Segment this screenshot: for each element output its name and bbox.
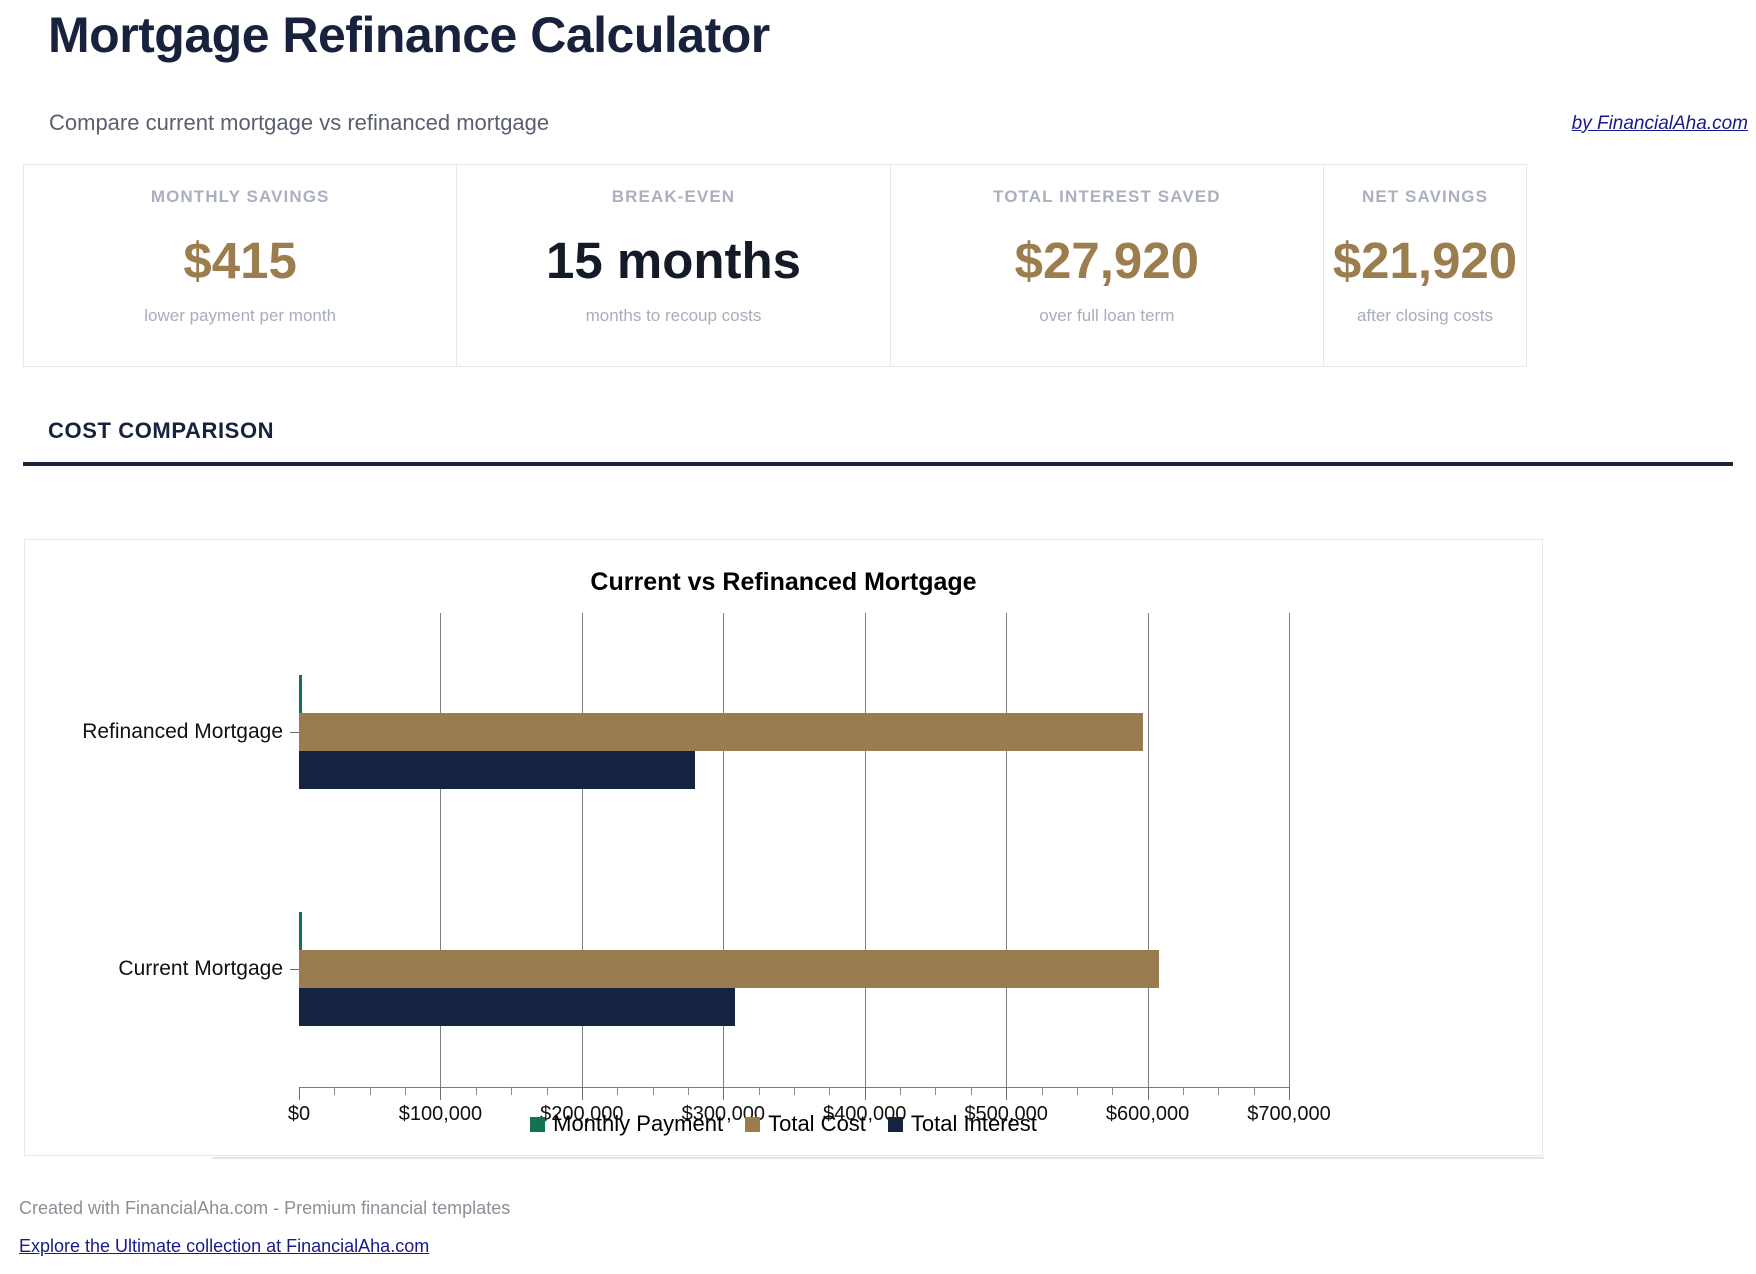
kpi-value: $415: [183, 231, 296, 290]
kpi-value: 15 months: [546, 231, 801, 290]
kpi-sublabel: after closing costs: [1357, 306, 1493, 326]
x-axis-tick: [1148, 1087, 1149, 1100]
legend-item[interactable]: Total Cost: [745, 1111, 866, 1137]
x-axis-minor-tick: [1077, 1087, 1078, 1095]
x-axis-minor-tick: [476, 1087, 477, 1095]
y-axis-category-label: Current Mortgage: [118, 957, 283, 981]
x-axis-tick: [582, 1087, 583, 1100]
gridline: [865, 613, 866, 1087]
x-axis-minor-tick: [547, 1087, 548, 1095]
x-axis-minor-tick: [617, 1087, 618, 1095]
kpi-card-row: MONTHLY SAVINGS $415 lower payment per m…: [23, 164, 1527, 367]
x-axis-tick: [299, 1087, 300, 1100]
section-divider: [23, 462, 1733, 466]
y-axis-tick: [290, 969, 299, 970]
x-axis-minor-tick: [511, 1087, 512, 1095]
page-title: Mortgage Refinance Calculator: [48, 6, 770, 64]
bar-refinanced-mortgage-monthly-payment: [299, 675, 302, 713]
gridline: [1006, 613, 1007, 1087]
x-axis-tick: [723, 1087, 724, 1100]
footer-note: Created with FinancialAha.com - Premium …: [19, 1198, 510, 1219]
y-axis-tick: [290, 732, 299, 733]
gridline: [1289, 613, 1290, 1087]
chart-bottom-rule: [212, 1157, 1544, 1159]
bar-current-mortgage-total-cost: [299, 950, 1159, 988]
x-axis-minor-tick: [829, 1087, 830, 1095]
x-axis-minor-tick: [759, 1087, 760, 1095]
legend-label: Monthly Payment: [553, 1111, 723, 1137]
legend-swatch: [888, 1117, 903, 1132]
x-axis-minor-tick: [405, 1087, 406, 1095]
bar-refinanced-mortgage-total-interest: [299, 751, 695, 789]
kpi-sublabel: months to recoup costs: [586, 306, 762, 326]
x-axis-minor-tick: [334, 1087, 335, 1095]
kpi-card-net-savings[interactable]: NET SAVINGS $21,920 after closing costs: [1324, 165, 1526, 366]
legend-item[interactable]: Monthly Payment: [530, 1111, 723, 1137]
kpi-value: $21,920: [1333, 231, 1517, 290]
x-axis-minor-tick: [653, 1087, 654, 1095]
kpi-sublabel: over full loan term: [1039, 306, 1174, 326]
kpi-label: TOTAL INTEREST SAVED: [993, 187, 1221, 207]
section-heading-cost-comparison: COST COMPARISON: [48, 418, 274, 444]
bar-current-mortgage-monthly-payment: [299, 912, 302, 950]
x-axis-minor-tick: [1183, 1087, 1184, 1095]
bar-refinanced-mortgage-total-cost: [299, 713, 1143, 751]
x-axis-minor-tick: [935, 1087, 936, 1095]
x-axis-minor-tick: [900, 1087, 901, 1095]
legend-label: Total Cost: [768, 1111, 866, 1137]
x-axis-minor-tick: [1112, 1087, 1113, 1095]
footer-link[interactable]: Explore the Ultimate collection at Finan…: [19, 1236, 429, 1257]
legend-swatch: [530, 1117, 545, 1132]
gridline: [1148, 613, 1149, 1087]
chart-container: Current vs Refinanced Mortgage $0$100,00…: [24, 539, 1543, 1156]
kpi-card-break-even[interactable]: BREAK-EVEN 15 months months to recoup co…: [457, 165, 890, 366]
x-axis-tick: [1006, 1087, 1007, 1100]
kpi-label: BREAK-EVEN: [612, 187, 735, 207]
legend-item[interactable]: Total Interest: [888, 1111, 1037, 1137]
kpi-label: NET SAVINGS: [1362, 187, 1488, 207]
x-axis-minor-tick: [1254, 1087, 1255, 1095]
kpi-value: $27,920: [1015, 231, 1199, 290]
x-axis-minor-tick: [1042, 1087, 1043, 1095]
x-axis-minor-tick: [971, 1087, 972, 1095]
legend-label: Total Interest: [911, 1111, 1037, 1137]
x-axis-tick: [440, 1087, 441, 1100]
kpi-label: MONTHLY SAVINGS: [151, 187, 330, 207]
chart-title: Current vs Refinanced Mortgage: [25, 568, 1542, 597]
x-axis-tick: [1289, 1087, 1290, 1100]
x-axis-tick: [865, 1087, 866, 1100]
kpi-card-total-interest-saved[interactable]: TOTAL INTEREST SAVED $27,920 over full l…: [891, 165, 1324, 366]
y-axis-category-label: Refinanced Mortgage: [82, 720, 283, 744]
chart-plot-area: $0$100,000$200,000$300,000$400,000$500,0…: [299, 613, 1289, 1158]
kpi-card-monthly-savings[interactable]: MONTHLY SAVINGS $415 lower payment per m…: [24, 165, 457, 366]
byline-link[interactable]: by FinancialAha.com: [1572, 113, 1748, 135]
page-subtitle: Compare current mortgage vs refinanced m…: [49, 110, 549, 136]
x-axis-minor-tick: [370, 1087, 371, 1095]
x-axis-minor-tick: [794, 1087, 795, 1095]
bar-current-mortgage-total-interest: [299, 988, 735, 1026]
x-axis-minor-tick: [1218, 1087, 1219, 1095]
x-axis-minor-tick: [688, 1087, 689, 1095]
chart-legend: Monthly PaymentTotal CostTotal Interest: [25, 1111, 1542, 1137]
kpi-sublabel: lower payment per month: [144, 306, 336, 326]
legend-swatch: [745, 1117, 760, 1132]
